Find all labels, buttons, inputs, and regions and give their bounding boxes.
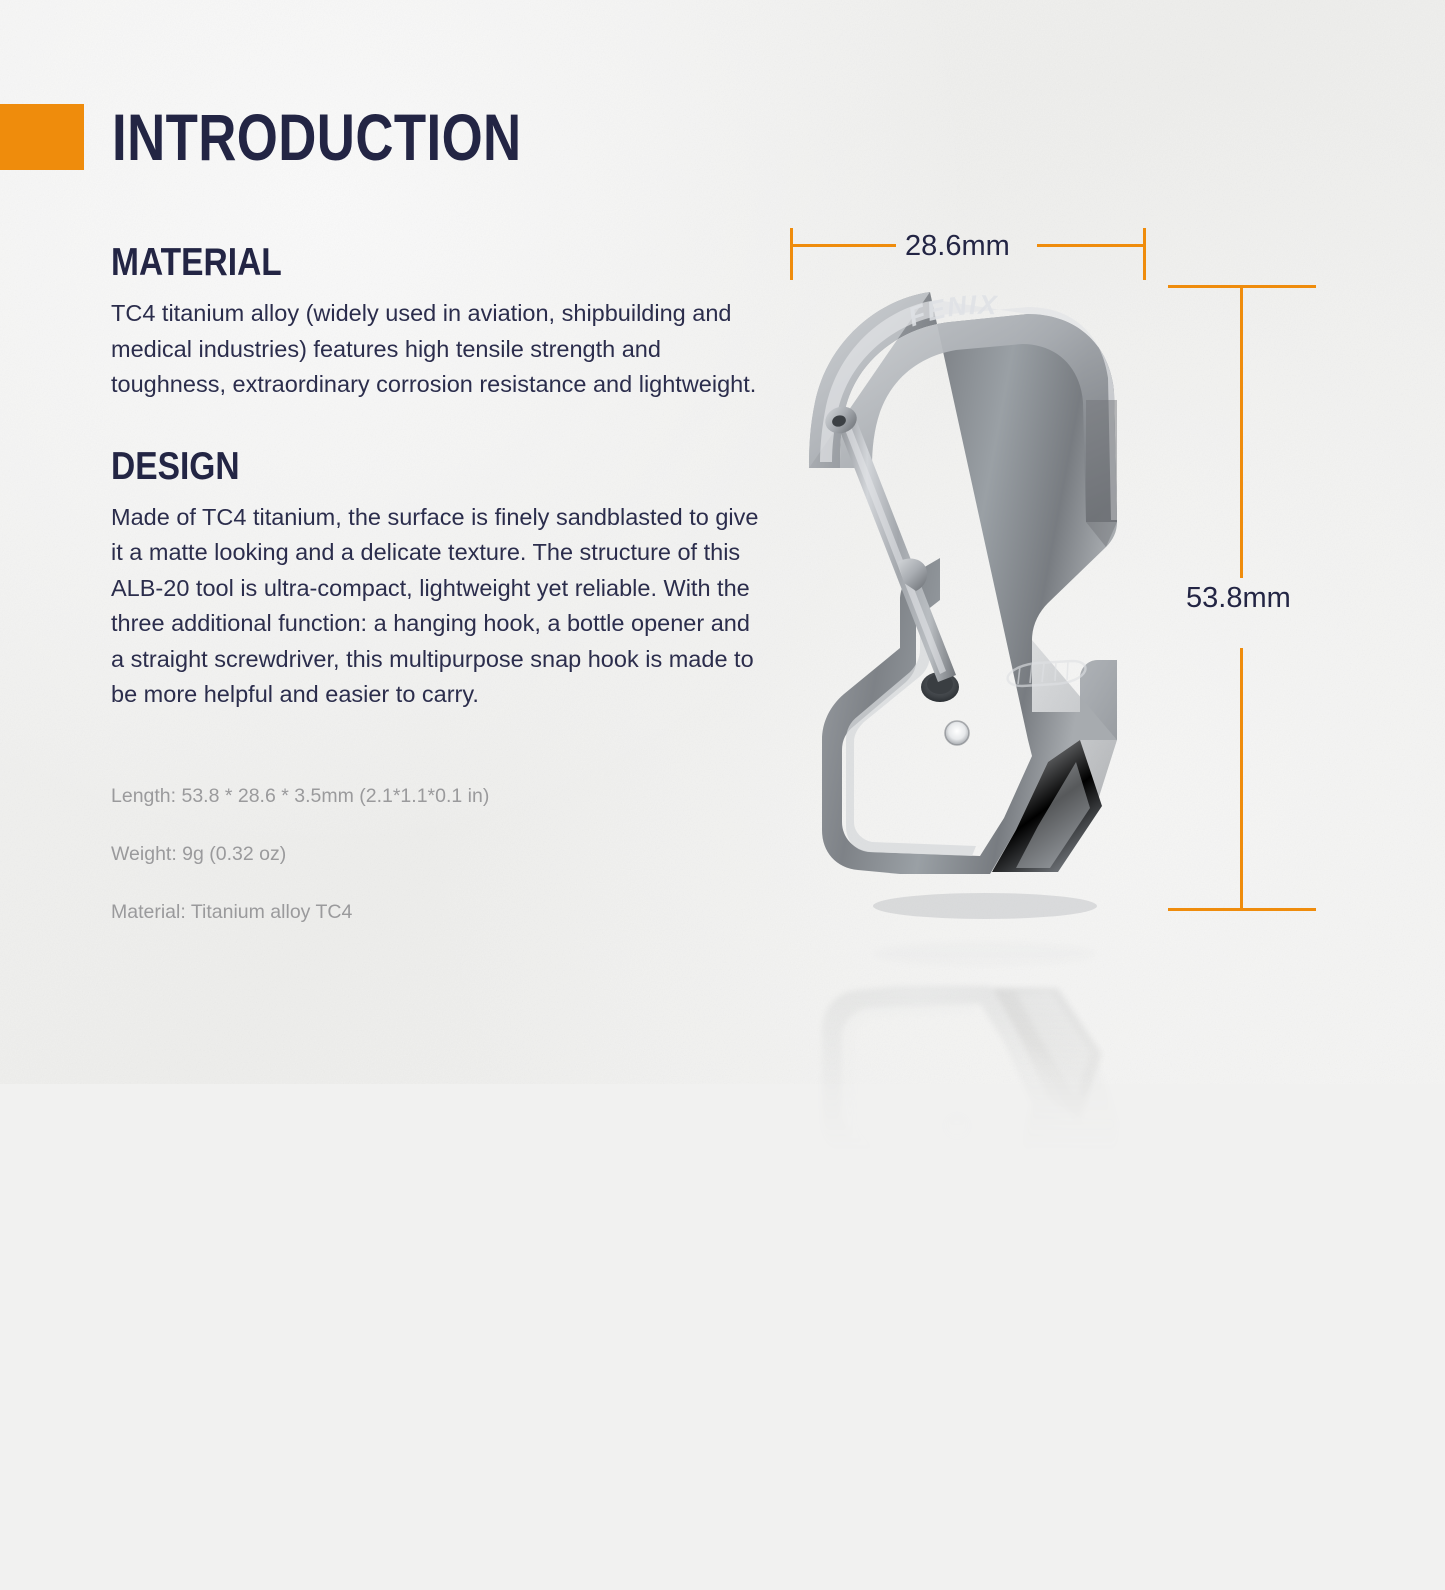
dim-width-line-left <box>790 244 896 247</box>
page-title: INTRODUCTION <box>112 104 522 170</box>
spec-material: Material: Titanium alloy TC4 <box>111 898 761 927</box>
dim-height-line-lower <box>1240 648 1243 911</box>
spec-length: Length: 53.8 * 28.6 * 3.5mm (2.1*1.1*0.1… <box>111 782 761 811</box>
section-body-material: TC4 titanium alloy (widely used in aviat… <box>111 296 761 403</box>
page-header: INTRODUCTION <box>0 104 624 170</box>
spec-weight: Weight: 9g (0.32 oz) <box>111 840 761 869</box>
dim-width-left-cap <box>790 228 793 280</box>
dim-width-line-right <box>1037 244 1145 247</box>
section-material: MATERIAL TC4 titanium alloy (widely used… <box>111 243 761 403</box>
header-accent-bar <box>0 104 84 170</box>
content-column: MATERIAL TC4 titanium alloy (widely used… <box>111 243 761 956</box>
section-body-design: Made of TC4 titanium, the surface is fin… <box>111 500 761 713</box>
dim-width-label: 28.6mm <box>905 230 1010 263</box>
section-heading-material: MATERIAL <box>111 243 670 282</box>
dim-height-line-top <box>1240 285 1243 578</box>
section-heading-design: DESIGN <box>111 447 670 486</box>
dim-width-right-cap <box>1143 228 1146 280</box>
section-design: DESIGN Made of TC4 titanium, the surface… <box>111 447 761 713</box>
specifications-block: Length: 53.8 * 28.6 * 3.5mm (2.1*1.1*0.1… <box>111 753 761 956</box>
dim-height-label: 53.8mm <box>1186 582 1291 615</box>
product-carabiner-image: FENIX <box>780 270 1200 930</box>
